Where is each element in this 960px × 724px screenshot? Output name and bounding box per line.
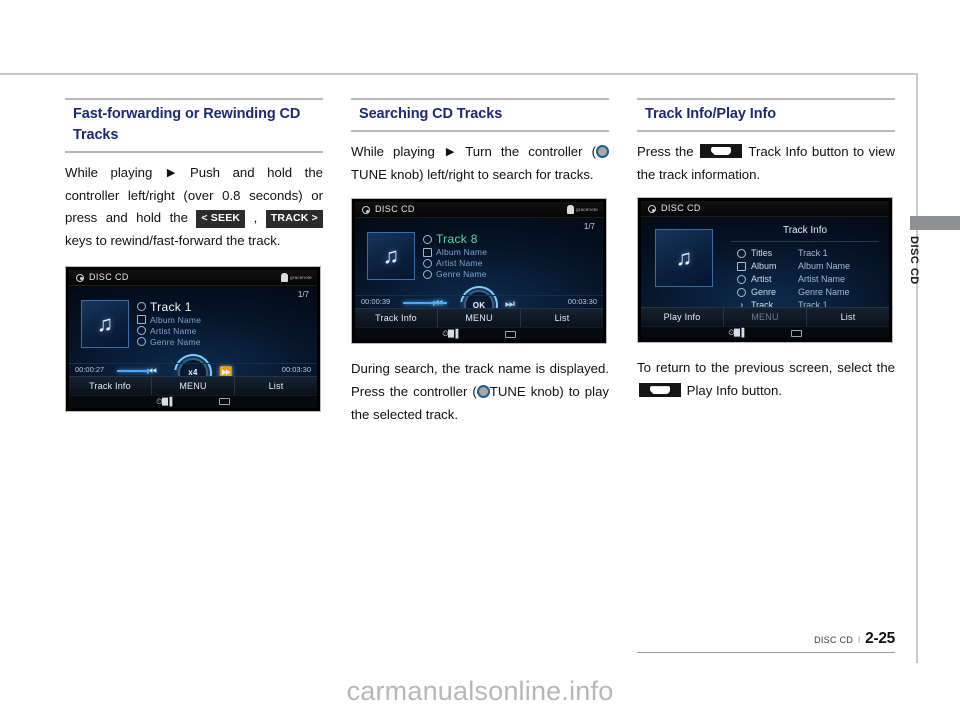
field-label: Genre (751, 287, 793, 297)
text-run: Turn the controller ( (456, 144, 596, 159)
album-art: ♫ (655, 229, 713, 287)
track-title: Track 1 (150, 300, 192, 314)
track-title: Track 8 (436, 232, 478, 246)
section-heading-container: Fast-forwarding or Rewinding CD Tracks (65, 98, 323, 153)
artist-icon (137, 326, 146, 335)
progress-bar[interactable]: 00:00:27 00:03:30 (69, 363, 317, 376)
track-metadata: Track 8 Album Name Artist Name Genre Nam… (423, 232, 487, 280)
text-run: To return to the previous screen, select… (637, 360, 895, 375)
elapsed-time: 00:00:27 (75, 365, 104, 374)
track-info-panel-title: Track Info (731, 225, 879, 236)
page-footer: DISC CD l 2-25 (814, 630, 895, 648)
tab-menu[interactable]: MENU (151, 377, 234, 395)
seek-key-label: < SEEK (196, 210, 245, 228)
head-unit-tabbar: Track Info MENU List (69, 376, 317, 395)
genre-name: Genre Name (436, 269, 487, 279)
genre-name: Genre Name (150, 337, 201, 347)
tab-track-info[interactable]: Track Info (69, 377, 151, 395)
screenshot-track-info: DISC CD ♫ Track Info Titles Track 1 Albu… (637, 197, 893, 343)
signal-icon: ⏲▊▌ (442, 329, 460, 339)
gracenote-icon (567, 205, 574, 214)
head-unit-tabbar: Track Info MENU List (355, 308, 603, 327)
artist-name: Artist Name (150, 326, 197, 336)
page-right-rule (916, 73, 918, 663)
text-run: Press the (637, 144, 698, 159)
titles-icon (423, 235, 432, 244)
play-triangle-icon: ▶ (444, 143, 456, 162)
field-label: Artist (751, 274, 793, 284)
footer-separator: l (858, 635, 860, 645)
text-run: Play Info button. (683, 383, 782, 398)
total-time: 00:03:30 (568, 297, 597, 306)
status-bar: ⏲▊▌ (355, 327, 603, 340)
page-top-rule (0, 73, 918, 75)
text-run: , (245, 210, 266, 225)
gracenote-icon (281, 273, 288, 282)
metadata-row-artist: Artist Name (137, 326, 201, 336)
track-key-label: TRACK > (266, 210, 323, 228)
paragraph-during-search: During search, the track name is display… (351, 358, 609, 426)
genre-icon (737, 288, 746, 297)
track-index: 1/7 (584, 222, 595, 231)
paragraph-track-info: Press the Track Info button to view the … (637, 141, 895, 186)
tab-menu[interactable]: MENU (437, 309, 520, 327)
play-triangle-icon: ▶ (165, 164, 177, 183)
artist-name: Artist Name (436, 258, 483, 268)
progress-fill (403, 302, 447, 304)
gracenote-label: gracenote (576, 207, 598, 212)
album-art: ♫ (81, 300, 129, 348)
list-item: Artist Artist Name (737, 274, 850, 284)
music-note-icon: ♫ (676, 247, 693, 269)
music-note-icon: ♫ (383, 245, 400, 267)
titles-icon (737, 249, 746, 258)
panel-divider (731, 241, 879, 242)
text-run: TUNE knob) left/right to search for trac… (351, 167, 594, 182)
album-icon (737, 262, 746, 271)
tab-play-info[interactable]: Play Info (641, 308, 723, 326)
album-name: Album Name (150, 315, 201, 325)
signal-icon: ⏲▊▌ (728, 328, 746, 338)
tab-list[interactable]: List (234, 377, 317, 395)
field-value: Album Name (798, 261, 850, 271)
page-title: Searching CD Tracks (359, 104, 609, 125)
progress-fill (117, 370, 149, 372)
head-unit-tabbar: Play Info MENU List (641, 307, 889, 326)
paragraph-searching: While playing ▶ Turn the controller ( TU… (351, 141, 609, 186)
head-unit-display: DISC CD ♫ Track Info Titles Track 1 Albu… (641, 201, 889, 339)
footer-page-number: 2-25 (865, 630, 895, 648)
metadata-row-album: Album Name (137, 315, 201, 325)
page-title: Fast-forwarding or Rewinding CD Tracks (73, 104, 323, 146)
status-bar: ⏲▊▌ (69, 395, 317, 408)
track-info-button-icon (700, 144, 742, 158)
head-unit-display: DISC CD gracenote 1/7 ♫ Track 8 (355, 202, 603, 340)
play-info-button-icon (639, 383, 681, 397)
total-time: 00:03:30 (282, 365, 311, 374)
head-unit-source-label: DISC CD (661, 203, 701, 213)
text-run: While playing (351, 144, 444, 159)
tab-list[interactable]: List (520, 309, 603, 327)
footer-category: DISC CD (814, 635, 853, 645)
field-label: Titles (751, 248, 793, 258)
list-item: Titles Track 1 (737, 248, 850, 258)
album-icon (423, 248, 432, 257)
page-title: Track Info/Play Info (645, 104, 895, 125)
metadata-row-genre: Genre Name (423, 269, 487, 279)
head-unit-display: DISC CD gracenote 1/7 ♫ Track 1 (69, 270, 317, 408)
section-track-info: Track Info/Play Info Press the Track Inf… (637, 98, 895, 403)
watermark: carmanualsonline.info (0, 676, 960, 707)
album-name: Album Name (436, 247, 487, 257)
genre-icon (423, 270, 432, 279)
album-icon (137, 315, 146, 324)
screenshot-search-track8: DISC CD gracenote 1/7 ♫ Track 8 (351, 198, 607, 344)
album-art: ♫ (367, 232, 415, 280)
side-tab-marker (910, 216, 960, 230)
text-run: keys to rewind/fast-forward the track. (65, 233, 280, 248)
titles-icon (137, 302, 146, 311)
elapsed-time: 00:00:39 (361, 297, 390, 306)
field-value: Artist Name (798, 274, 845, 284)
section-fast-forwarding: Fast-forwarding or Rewinding CD Tracks W… (65, 98, 323, 412)
tune-knob-icon (596, 145, 609, 158)
paragraph-fast-forward: While playing ▶ Push and hold the contro… (65, 162, 323, 253)
section-heading-container: Track Info/Play Info (637, 98, 895, 132)
status-bar: ⏲▊▌ (641, 326, 889, 339)
section-searching: Searching CD Tracks While playing ▶ Turn… (351, 98, 609, 427)
metadata-row-album: Album Name (423, 247, 487, 257)
paragraph-return-previous: To return to the previous screen, select… (637, 357, 895, 402)
artist-icon (423, 259, 432, 268)
gracenote-label: gracenote (290, 275, 312, 280)
head-unit-source-label: DISC CD (375, 204, 415, 214)
field-value: Genre Name (798, 287, 850, 297)
manual-page: DISC CD Fast-forwarding or Rewinding CD … (0, 0, 960, 724)
gracenote-logo: gracenote (281, 273, 312, 282)
tab-menu[interactable]: MENU (723, 308, 806, 326)
side-tab-label: DISC CD (900, 236, 920, 316)
list-item: Album Album Name (737, 261, 850, 271)
track-index: 1/7 (298, 290, 309, 299)
metadata-row-genre: Genre Name (137, 337, 201, 347)
screenshot-play-info-track1: DISC CD gracenote 1/7 ♫ Track 1 (65, 266, 321, 412)
tab-list[interactable]: List (806, 308, 889, 326)
list-item: Genre Genre Name (737, 287, 850, 297)
metadata-row-artist: Artist Name (423, 258, 487, 268)
progress-bar[interactable]: 00:00:39 00:03:30 (355, 295, 603, 308)
genre-icon (137, 337, 146, 346)
section-heading-container: Searching CD Tracks (351, 98, 609, 132)
media-icon (791, 330, 802, 337)
footer-rule (637, 652, 895, 653)
field-label: Album (751, 261, 793, 271)
disc-icon (76, 274, 84, 282)
signal-icon: ⏲▊▌ (156, 397, 174, 407)
artist-icon (737, 275, 746, 284)
media-icon (505, 331, 516, 338)
metadata-row-title: Track 1 (137, 300, 201, 314)
tune-knob-icon (477, 385, 490, 398)
music-note-icon: ♫ (97, 313, 114, 335)
metadata-row-title: Track 8 (423, 232, 487, 246)
text-run: While playing (65, 165, 165, 180)
field-value: Track 1 (798, 248, 828, 258)
track-metadata: Track 1 Album Name Artist Name Genre Nam… (137, 300, 201, 348)
head-unit-source-label: DISC CD (89, 272, 129, 282)
gracenote-logo: gracenote (567, 205, 598, 214)
media-icon (219, 398, 230, 405)
tab-track-info[interactable]: Track Info (355, 309, 437, 327)
track-info-list: Titles Track 1 Album Album Name Artist A… (737, 248, 850, 313)
